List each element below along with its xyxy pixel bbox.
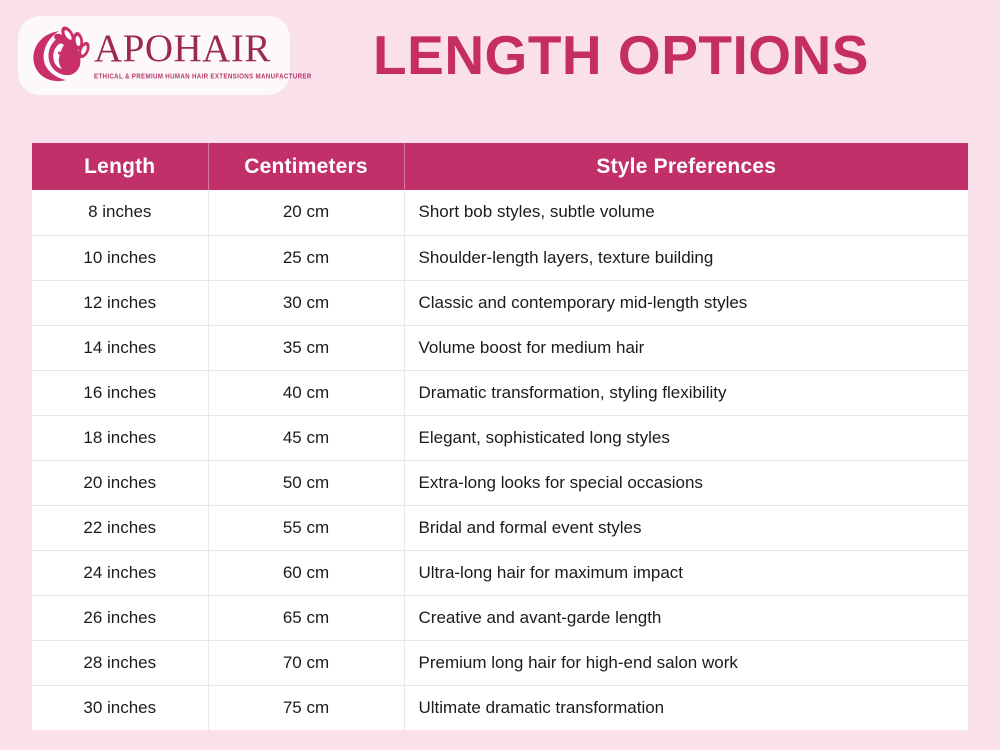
table-row: 12 inches30 cmClassic and contemporary m… [32, 280, 968, 325]
cell-centimeters: 30 cm [208, 280, 404, 325]
brand-wordmark: APOHAIR [94, 29, 312, 68]
length-options-table: Length Centimeters Style Preferences 8 i… [32, 143, 968, 730]
cell-centimeters: 50 cm [208, 460, 404, 505]
brand-logo-card[interactable]: APOHAIR ETHICAL & PREMIUM HUMAN HAIR EXT… [18, 16, 290, 95]
table-row: 8 inches20 cmShort bob styles, subtle vo… [32, 190, 968, 235]
table-row: 26 inches65 cmCreative and avant-garde l… [32, 595, 968, 640]
cell-style-preference: Volume boost for medium hair [404, 325, 968, 370]
table-row: 14 inches35 cmVolume boost for medium ha… [32, 325, 968, 370]
page-header: APOHAIR ETHICAL & PREMIUM HUMAN HAIR EXT… [0, 0, 1000, 110]
cell-centimeters: 45 cm [208, 415, 404, 460]
page-title: LENGTH OPTIONS [290, 28, 1000, 83]
length-options-table-container: Length Centimeters Style Preferences 8 i… [32, 143, 968, 730]
cell-length: 16 inches [32, 370, 208, 415]
table-row: 24 inches60 cmUltra-long hair for maximu… [32, 550, 968, 595]
cell-centimeters: 70 cm [208, 640, 404, 685]
table-header-row: Length Centimeters Style Preferences [32, 143, 968, 190]
cell-centimeters: 20 cm [208, 190, 404, 235]
woman-profile-flower-icon [28, 22, 100, 86]
table-row: 28 inches70 cmPremium long hair for high… [32, 640, 968, 685]
cell-centimeters: 75 cm [208, 685, 404, 730]
cell-centimeters: 60 cm [208, 550, 404, 595]
column-header-length: Length [32, 143, 208, 190]
cell-length: 30 inches [32, 685, 208, 730]
cell-style-preference: Classic and contemporary mid-length styl… [404, 280, 968, 325]
cell-style-preference: Shoulder-length layers, texture building [404, 235, 968, 280]
cell-centimeters: 40 cm [208, 370, 404, 415]
cell-style-preference: Bridal and formal event styles [404, 505, 968, 550]
table-row: 20 inches50 cmExtra-long looks for speci… [32, 460, 968, 505]
table-body: 8 inches20 cmShort bob styles, subtle vo… [32, 190, 968, 730]
cell-length: 12 inches [32, 280, 208, 325]
cell-style-preference: Extra-long looks for special occasions [404, 460, 968, 505]
cell-centimeters: 25 cm [208, 235, 404, 280]
table-row: 10 inches25 cmShoulder-length layers, te… [32, 235, 968, 280]
cell-centimeters: 35 cm [208, 325, 404, 370]
cell-length: 8 inches [32, 190, 208, 235]
cell-length: 22 inches [32, 505, 208, 550]
cell-length: 28 inches [32, 640, 208, 685]
cell-style-preference: Short bob styles, subtle volume [404, 190, 968, 235]
table-row: 16 inches40 cmDramatic transformation, s… [32, 370, 968, 415]
table-header: Length Centimeters Style Preferences [32, 143, 968, 190]
column-header-centimeters: Centimeters [208, 143, 404, 190]
cell-length: 20 inches [32, 460, 208, 505]
cell-style-preference: Dramatic transformation, styling flexibi… [404, 370, 968, 415]
cell-style-preference: Ultra-long hair for maximum impact [404, 550, 968, 595]
cell-length: 26 inches [32, 595, 208, 640]
brand-tagline: ETHICAL & PREMIUM HUMAN HAIR EXTENSIONS … [94, 72, 312, 81]
table-row: 22 inches55 cmBridal and formal event st… [32, 505, 968, 550]
cell-style-preference: Creative and avant-garde length [404, 595, 968, 640]
cell-length: 14 inches [32, 325, 208, 370]
table-row: 18 inches45 cmElegant, sophisticated lon… [32, 415, 968, 460]
cell-length: 24 inches [32, 550, 208, 595]
cell-length: 18 inches [32, 415, 208, 460]
cell-centimeters: 55 cm [208, 505, 404, 550]
cell-style-preference: Ultimate dramatic transformation [404, 685, 968, 730]
cell-length: 10 inches [32, 235, 208, 280]
cell-style-preference: Premium long hair for high-end salon wor… [404, 640, 968, 685]
column-header-style-preferences: Style Preferences [404, 143, 968, 190]
cell-centimeters: 65 cm [208, 595, 404, 640]
table-row: 30 inches75 cmUltimate dramatic transfor… [32, 685, 968, 730]
cell-style-preference: Elegant, sophisticated long styles [404, 415, 968, 460]
